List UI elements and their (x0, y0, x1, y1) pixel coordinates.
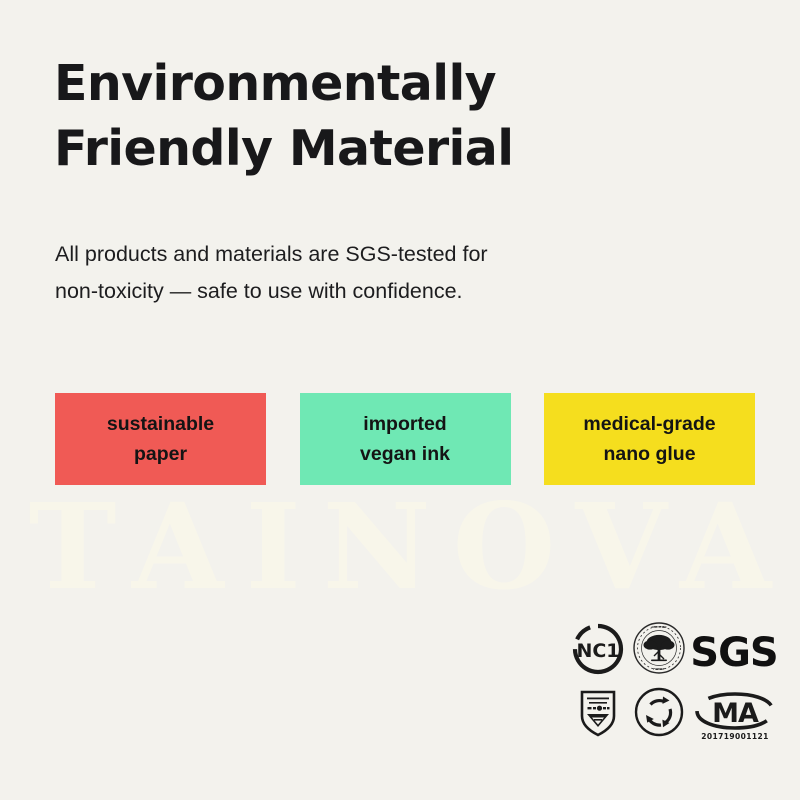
chip-label-line-1: sustainable (107, 409, 214, 439)
cma-certificate-number: 201719001121 (701, 733, 768, 741)
chip-label-line-1: medical-grade (583, 409, 715, 439)
subtitle-line-2: non-toxicity — safe to use with confiden… (55, 273, 655, 310)
headline-line-1: Environmentally (54, 52, 674, 117)
cma-mark-icon: MA 201719001121 (692, 684, 778, 740)
tree-seal-icon: CERTIFIED FOREST (630, 620, 688, 676)
chip-label-line-2: vegan ink (360, 439, 450, 469)
headline-line-2: Friendly Material (54, 117, 674, 182)
subtitle: All products and materials are SGS-teste… (55, 236, 655, 310)
poster-canvas: TAINOVA Environmentally Friendly Materia… (0, 0, 800, 800)
chip-imported-vegan-ink[interactable]: imported vegan ink (300, 393, 511, 485)
svg-text:NC1: NC1 (576, 640, 619, 662)
material-chip-group: sustainable paper imported vegan ink med… (55, 393, 755, 485)
certification-badges: NC1 (570, 618, 782, 740)
svg-text:CERTIFIED: CERTIFIED (652, 625, 668, 629)
page-title: Environmentally Friendly Material (54, 52, 674, 181)
svg-text:MA: MA (712, 698, 759, 729)
certification-row-bottom: MA 201719001121 (570, 682, 782, 740)
chip-medical-grade-nano-glue[interactable]: medical-grade nano glue (544, 393, 755, 485)
chip-label-line-2: nano glue (603, 439, 695, 469)
chip-label-line-2: paper (134, 439, 187, 469)
recycling-arrows-icon (630, 684, 688, 740)
nc1-certification-icon: NC1 (570, 622, 626, 676)
shield-badge-icon (570, 684, 626, 740)
chip-label-line-1: imported (363, 409, 446, 439)
brand-watermark: TAINOVA (0, 487, 800, 607)
svg-text:FOREST: FOREST (653, 667, 665, 671)
subtitle-line-1: All products and materials are SGS-teste… (55, 236, 655, 273)
sgs-logo: SGS (692, 630, 778, 676)
chip-sustainable-paper[interactable]: sustainable paper (55, 393, 266, 485)
certification-row-top: NC1 (570, 618, 782, 676)
